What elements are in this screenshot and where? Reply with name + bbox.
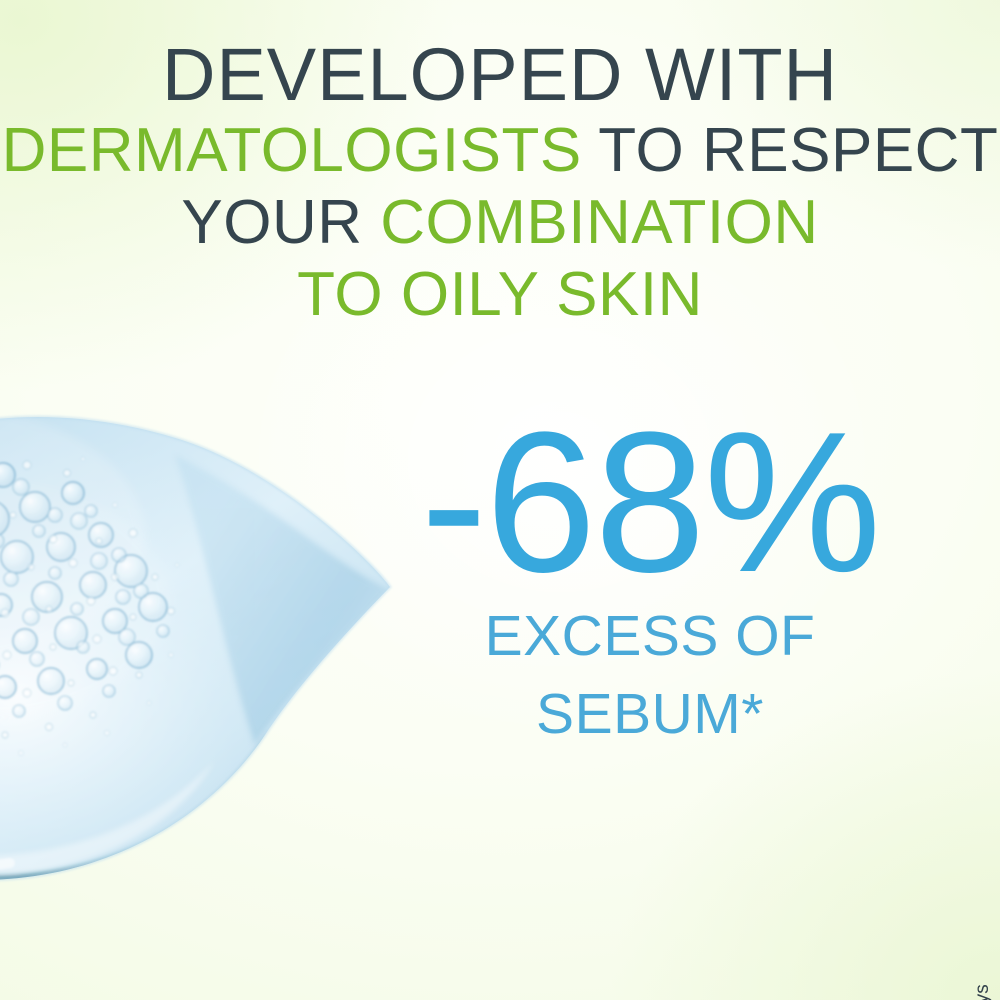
- headline-line-4: TO OILY SKIN: [0, 264, 1000, 326]
- headline-line-2-dark: TO RESPECT: [582, 116, 999, 185]
- statistic-value: -68%: [390, 415, 910, 591]
- headline-line-3: YOUR COMBINATION: [0, 192, 1000, 254]
- headline-line-3-dark: YOUR: [181, 188, 380, 257]
- footnote-text: *Sebumetry test on 20 volunteers 28 days: [972, 984, 994, 1000]
- ad-panel: DEVELOPED WITH DERMATOLOGISTS TO RESPECT…: [0, 0, 1000, 1000]
- headline-line-1: DEVELOPED WITH: [0, 38, 1000, 112]
- headline-line-2: DERMATOLOGISTS TO RESPECT: [0, 120, 1000, 182]
- statistic-caption-line-1: EXCESS OF: [390, 605, 910, 669]
- headline-line-3-green: COMBINATION: [380, 188, 818, 257]
- statistic-block: -68% EXCESS OF SEBUM*: [390, 415, 910, 747]
- headline-line-2-green: DERMATOLOGISTS: [2, 116, 582, 185]
- statistic-caption-line-2: SEBUM*: [390, 683, 910, 747]
- headline-block: DEVELOPED WITH DERMATOLOGISTS TO RESPECT…: [0, 38, 1000, 326]
